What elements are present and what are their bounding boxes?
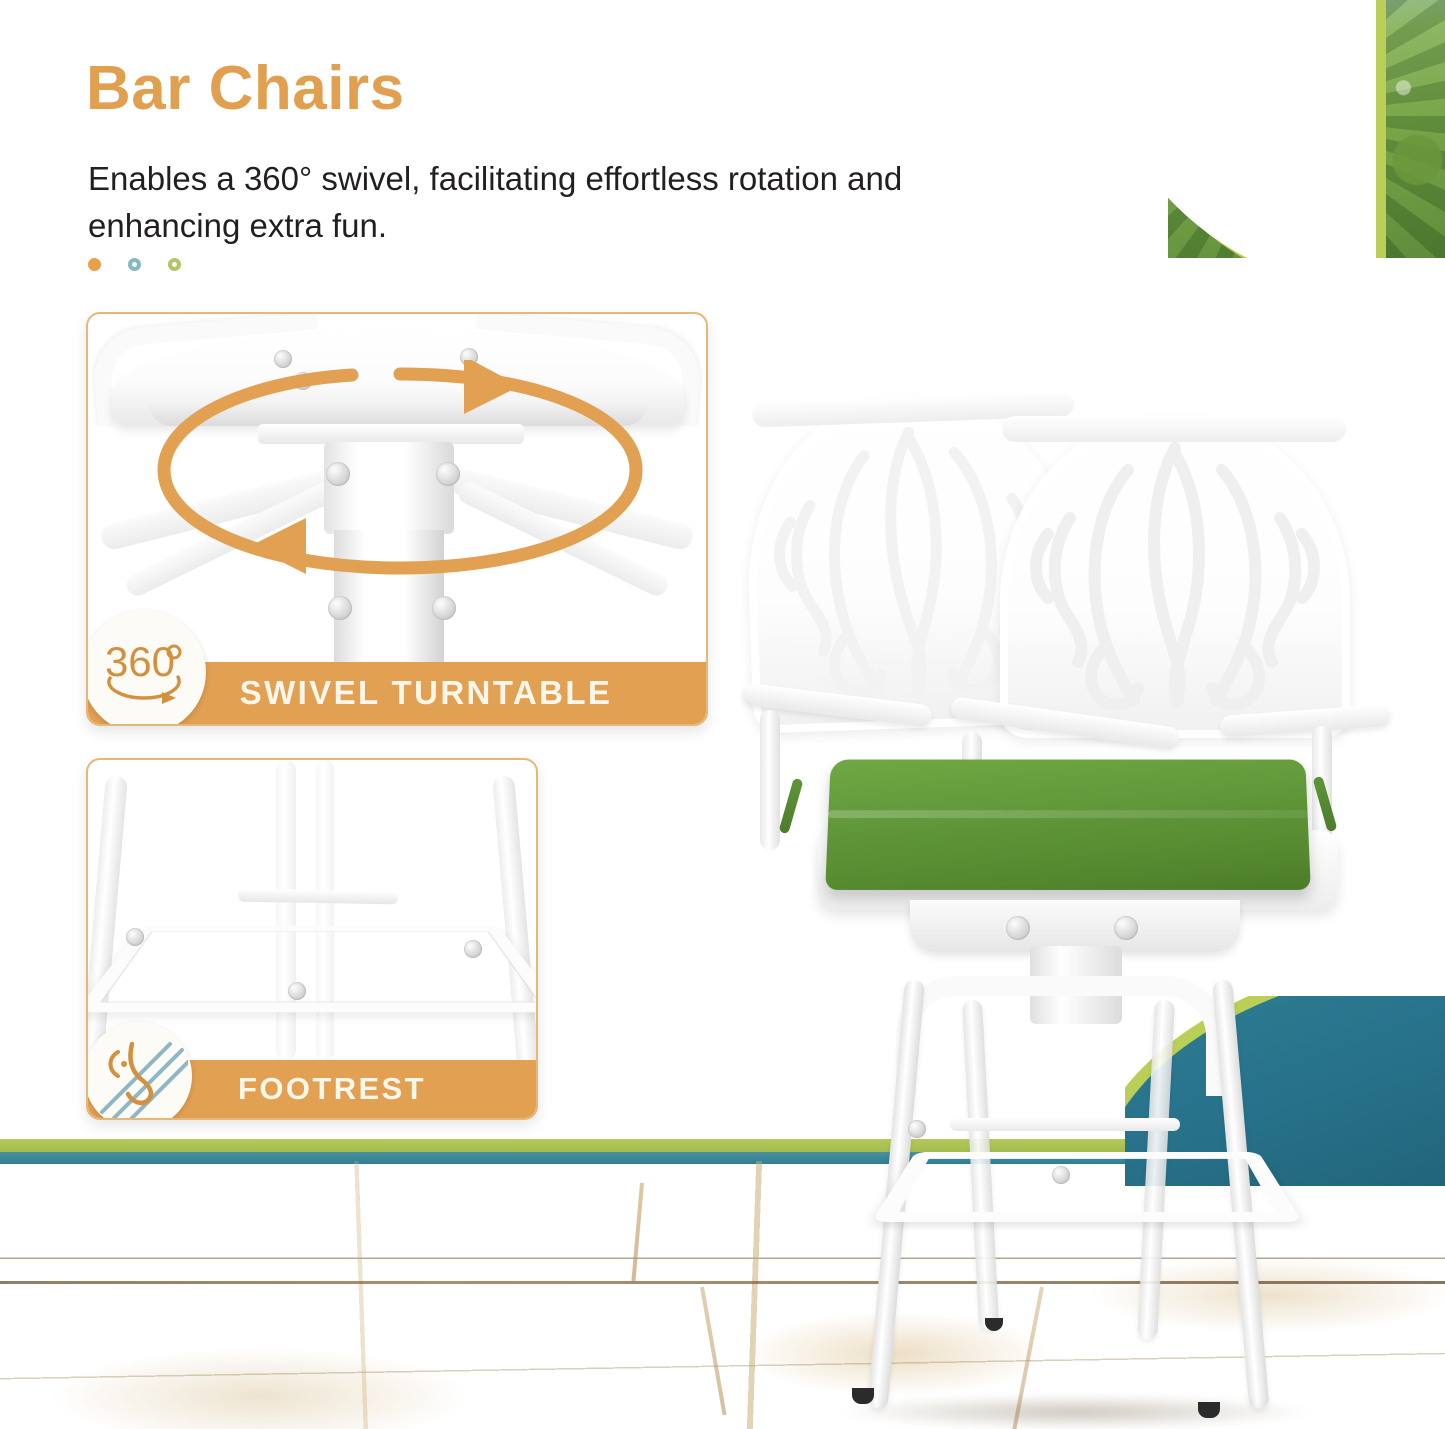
product-photo-bar-chairs xyxy=(700,360,1445,1429)
bolt-icon xyxy=(464,940,482,958)
chair-leg xyxy=(276,760,296,1060)
page-subtitle: Enables a 360° swivel, facilitating effo… xyxy=(88,156,988,250)
badge-360-icon: 360 xyxy=(90,618,198,726)
chair-leg xyxy=(316,760,334,1060)
dot-orange-icon xyxy=(88,258,101,271)
foliage-photo xyxy=(1168,0,1445,258)
chair-leg xyxy=(492,775,536,1076)
badge-360: 360 xyxy=(86,610,206,726)
green-seat-cushion xyxy=(825,760,1311,890)
foliage-curve-mask xyxy=(1168,0,1376,258)
base-arch xyxy=(896,976,1226,1096)
bolt-icon xyxy=(908,1120,926,1138)
bolt-icon xyxy=(288,982,306,1000)
bolt-icon xyxy=(1006,916,1030,940)
rotation-arrow-icon xyxy=(138,360,658,610)
decorative-dots xyxy=(88,258,181,271)
bolt-icon xyxy=(1114,916,1138,940)
product-feature-banner: Bar Chairs Enables a 360° swivel, facili… xyxy=(0,0,1445,1429)
feature-panel-footrest: FOOTREST xyxy=(86,758,538,1120)
chair-crest-rail-front xyxy=(1002,416,1346,442)
chair-backrest-front xyxy=(1000,418,1350,738)
feature-panel-swivel-turntable: SWIVEL TURNTABLE 360 xyxy=(86,312,708,726)
leg-foot-cap xyxy=(1198,1402,1220,1418)
armrest-post xyxy=(760,710,780,850)
bolt-icon xyxy=(126,928,144,946)
dot-green-icon xyxy=(168,258,181,271)
leg-foot-cap xyxy=(985,1318,1003,1331)
cushion-tie xyxy=(778,778,803,835)
scrollwork-pattern-icon xyxy=(1000,418,1350,738)
footrest-crossbar xyxy=(950,1118,1180,1131)
svg-text:360: 360 xyxy=(105,638,175,685)
swivel-hub xyxy=(910,900,1240,952)
footrest-ring xyxy=(871,1152,1302,1222)
footrest-ring xyxy=(88,926,536,1013)
panel-label-footrest: FOOTREST xyxy=(198,1071,426,1107)
dot-blue-icon xyxy=(128,258,141,271)
panel-label-swivel: SWIVEL TURNTABLE xyxy=(182,674,613,712)
product-shadow xyxy=(840,1395,1310,1429)
cushion-piping xyxy=(828,810,1308,818)
page-title: Bar Chairs xyxy=(86,56,405,121)
bolt-icon xyxy=(1052,1166,1070,1184)
footrest-crossbar xyxy=(238,889,398,905)
foot-on-bar-icon xyxy=(88,1026,188,1120)
leg-foot-cap xyxy=(852,1388,874,1404)
